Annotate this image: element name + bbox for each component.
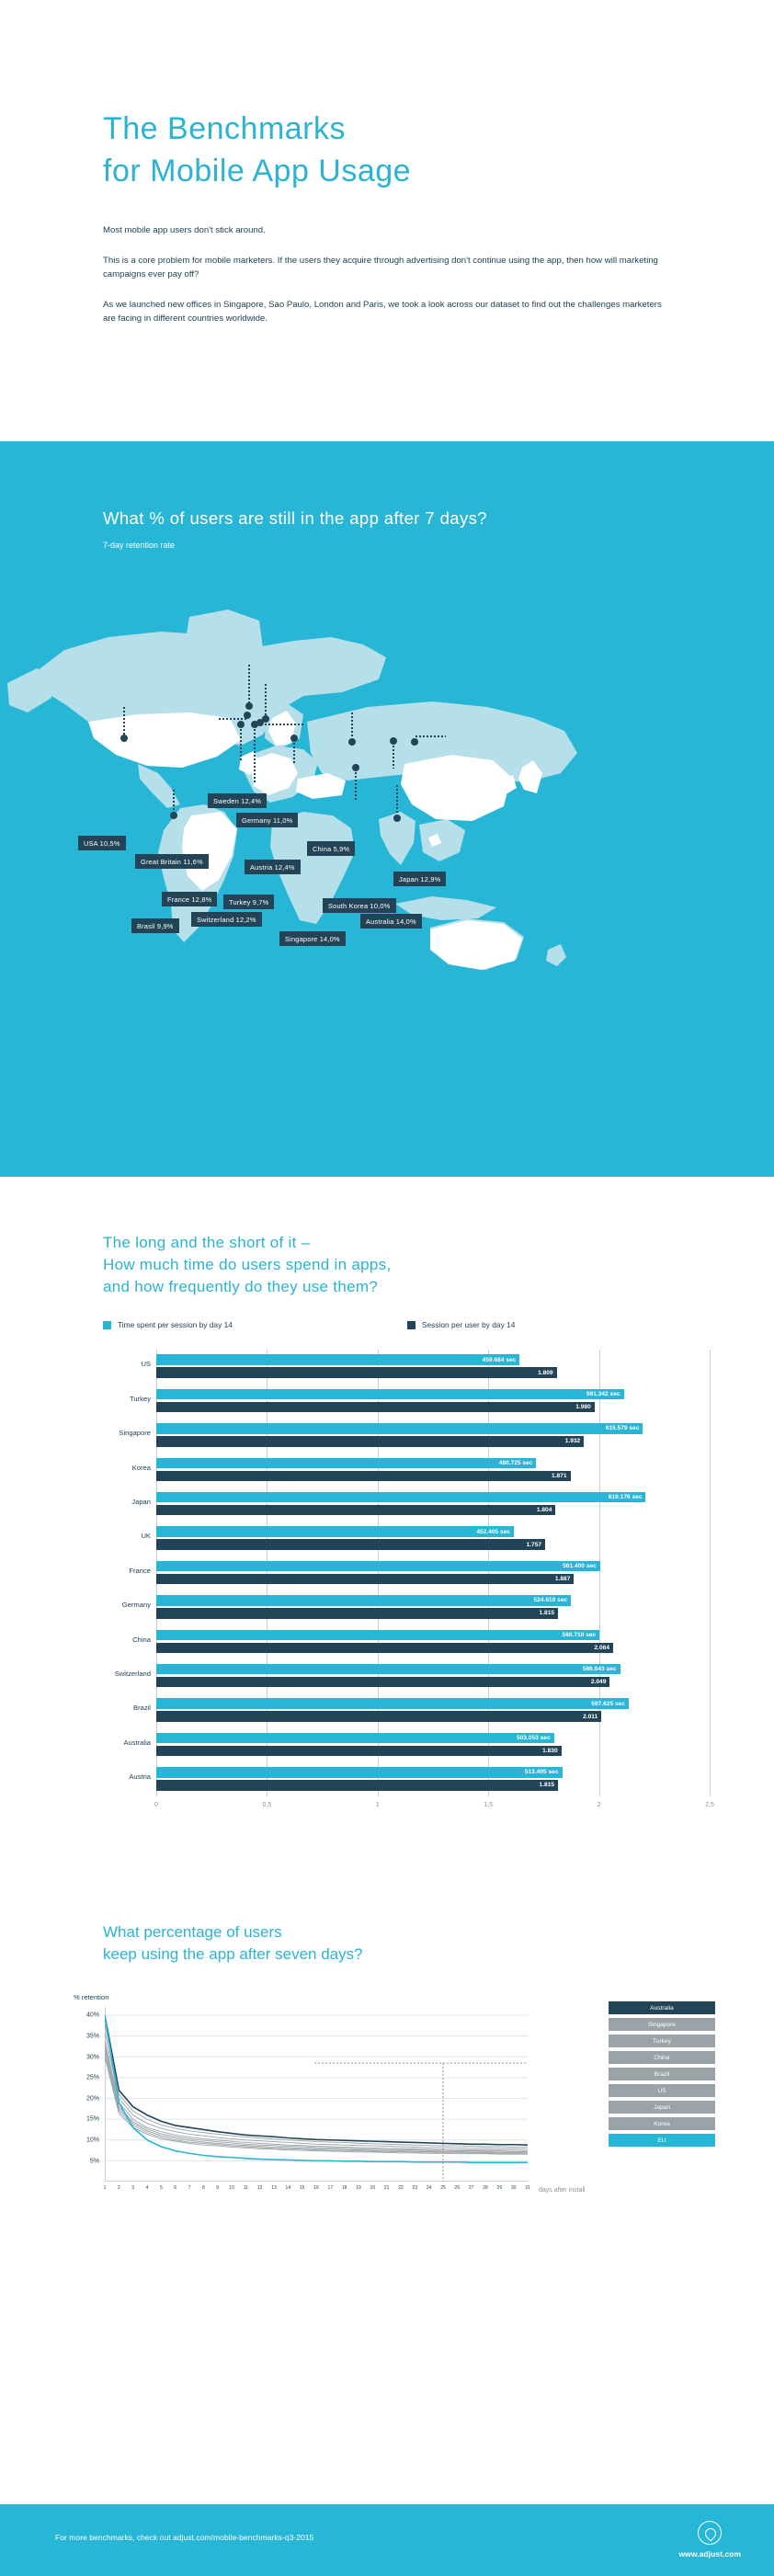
retention-curve-section: What percentage of users keep using the …: [0, 1921, 774, 2218]
line-chart-x-tick: 1: [104, 2185, 107, 2191]
intro-paragraph-2: This is a core problem for mobile market…: [103, 254, 664, 282]
line-chart-y-tick: 10%: [86, 2137, 99, 2144]
line-chart-y-tick: 40%: [86, 2012, 99, 2019]
bar-chart-plot: US459.684 sec1.809Turkey591.342 sec1.980…: [156, 1350, 710, 1796]
line-chart-plot: [105, 2007, 528, 2182]
bar-chart-row: UK452.405 sec1.757: [156, 1522, 710, 1556]
line-chart-legend-item[interactable]: Singapore: [609, 2018, 715, 2031]
line-chart-x-tick: 28: [483, 2185, 488, 2191]
bar-sessions: 1.809: [156, 1367, 557, 1378]
bar-sessions-value: 1.809: [538, 1370, 557, 1376]
bar-sessions-value: 2.011: [583, 1714, 601, 1720]
bar-sessions: 1.815: [156, 1608, 558, 1619]
line-series-singapore: [105, 2023, 528, 2147]
line-chart-x-tick: 10: [229, 2185, 234, 2191]
line-chart-x-axis: 1234567891011121314151617181920212223242…: [105, 2185, 528, 2198]
line-chart-x-tick: 22: [398, 2185, 404, 2191]
line-chart-x-tick: 3: [131, 2185, 134, 2191]
line-chart-legend-item[interactable]: Japan: [609, 2101, 715, 2114]
line-chart-legend-item[interactable]: China: [609, 2051, 715, 2064]
bar-time-value: 503.053 sec: [517, 1735, 554, 1741]
bar-chart-x-tick: 2,5: [705, 1802, 714, 1808]
line-series-australia: [105, 2015, 528, 2145]
line-series-us: [105, 2048, 528, 2153]
footer: For more benchmarks, check out adjust.co…: [0, 2504, 774, 2576]
bar-chart-x-tick: 2: [598, 1802, 601, 1808]
line-chart-x-tick: 4: [146, 2185, 149, 2191]
line-chart-y-tick: 20%: [86, 2095, 99, 2102]
map-pin-leader: [264, 683, 267, 719]
line-chart-x-caption: days after install: [539, 2187, 586, 2194]
bar-chart-row: Germany524.619 sec1.815: [156, 1590, 710, 1624]
bar-chart-row-label: France: [103, 1567, 151, 1575]
map-pin-label: Brasil 9,9%: [131, 918, 179, 933]
bar-sessions: 1.932: [156, 1436, 584, 1447]
intro-section: The Benchmarks for Mobile App Usage Most…: [0, 0, 774, 326]
map-pin-leader: [354, 768, 358, 802]
footer-brand[interactable]: www.adjust.com: [679, 2521, 742, 2559]
bar-sessions: 2.011: [156, 1711, 601, 1722]
bar-time-spent: 503.053 sec: [156, 1733, 554, 1744]
bar-chart-row: Brazil597.625 sec2.011: [156, 1693, 710, 1727]
bar-sessions-value: 1.830: [542, 1748, 562, 1754]
bar-chart-x-axis: 00,511,522,5: [156, 1802, 710, 1815]
line-series-turkey: [105, 2032, 528, 2149]
bar-sessions: 1.887: [156, 1574, 574, 1585]
sec3-heading: What percentage of users keep using the …: [103, 1921, 774, 1966]
line-chart-x-tick: 18: [342, 2185, 347, 2191]
line-chart-x-tick: 2: [118, 2185, 120, 2191]
line-chart-x-tick: 6: [174, 2185, 176, 2191]
map-pin-leader: [395, 784, 399, 818]
map-subheading: 7-day retention rate: [103, 541, 175, 550]
bar-sessions-value: 2.049: [591, 1679, 610, 1685]
line-chart-x-tick: 24: [427, 2185, 432, 2191]
bar-chart-x-tick: 0: [154, 1802, 158, 1808]
session-bar-chart: US459.684 sec1.809Turkey591.342 sec1.980…: [103, 1350, 710, 1824]
map-pin-leader: [292, 738, 296, 765]
map-pin-leader: [260, 723, 304, 726]
sec2-heading-line-1: The long and the short of it –: [103, 1234, 310, 1251]
bar-chart-row-label: Turkey: [103, 1395, 151, 1403]
bar-chart-row-label: UK: [103, 1532, 151, 1540]
bar-chart-row-label: Korea: [103, 1464, 151, 1472]
line-chart-x-tick: 11: [244, 2185, 248, 2191]
bar-time-value: 615.579 sec: [606, 1425, 643, 1431]
line-chart-legend-item[interactable]: Korea: [609, 2117, 715, 2130]
intro-paragraph-3: As we launched new offices in Singapore,…: [103, 298, 664, 326]
sec2-heading-line-3: and how frequently do they use them?: [103, 1278, 378, 1295]
legend-label-sessions: Session per user by day 14: [422, 1320, 516, 1329]
bar-time-spent: 586.643 sec: [156, 1664, 620, 1675]
bar-chart-row-label: China: [103, 1636, 151, 1644]
retention-line-chart: 40%35%30%25%20%15%10%5% 1234567891011121…: [72, 2007, 715, 2218]
bar-time-spent: 452.405 sec: [156, 1526, 514, 1537]
bar-time-spent: 560.719 sec: [156, 1630, 599, 1641]
bar-chart-row: Singapore615.579 sec1.932: [156, 1419, 710, 1453]
bar-time-value: 452.405 sec: [476, 1529, 514, 1535]
bar-chart-row-label: Germany: [103, 1601, 151, 1609]
bar-sessions-value: 1.804: [537, 1507, 556, 1513]
bar-chart-row-label: Switzerland: [103, 1670, 151, 1678]
bar-time-spent: 591.342 sec: [156, 1389, 624, 1400]
line-chart-y-tick: 30%: [86, 2054, 99, 2060]
sec3-heading-line-2: keep using the app after seven days?: [103, 1945, 363, 1963]
map-pin-leader: [122, 706, 126, 738]
sec2-heading-line-2: How much time do users spend in apps,: [103, 1256, 391, 1273]
bar-chart-x-tick: 1,5: [484, 1802, 493, 1808]
line-chart-legend: AustraliaSingaporeTurkeyChinaBrazilUSJap…: [609, 2001, 715, 2150]
legend-label-time: Time spent per session by day 14: [118, 1320, 233, 1329]
title-line-1: The Benchmarks: [103, 111, 346, 146]
bar-time-spent: 524.619 sec: [156, 1595, 571, 1606]
bar-sessions: 1.815: [156, 1780, 558, 1791]
bar-time-value: 480.725 sec: [499, 1460, 537, 1466]
map-heading: What % of users are still in the app aft…: [103, 508, 487, 529]
line-series-japan: [105, 2053, 528, 2153]
bar-chart-row: France561.400 sec1.887: [156, 1556, 710, 1590]
map-section: What % of users are still in the app aft…: [0, 441, 774, 1177]
bar-sessions-value: 1.815: [540, 1782, 559, 1788]
bar-chart-row-label: Brazil: [103, 1704, 151, 1712]
bar-chart-row: China560.719 sec2.064: [156, 1625, 710, 1659]
bar-chart-row-label: Australia: [103, 1738, 151, 1747]
retention-y-axis-label: % retention: [74, 1993, 774, 2001]
map-pin-label: Singapore 14,0%: [279, 931, 346, 946]
bar-time-value: 619.176 sec: [609, 1494, 646, 1500]
legend-swatch-time: [103, 1321, 111, 1329]
bar-sessions: 1.804: [156, 1505, 555, 1516]
map-pin-label: Great Britain 11,6%: [135, 854, 209, 869]
bar-chart-row-label: US: [103, 1360, 151, 1368]
line-chart-legend-item[interactable]: Turkey: [609, 2035, 715, 2047]
bar-time-value: 560.719 sec: [563, 1632, 600, 1638]
line-chart-x-tick: 9: [216, 2185, 219, 2191]
line-chart-x-tick: 25: [440, 2185, 446, 2191]
line-chart-y-tick: 5%: [90, 2158, 99, 2164]
bar-time-value: 561.400 sec: [563, 1563, 600, 1569]
line-chart-x-tick: 15: [300, 2185, 305, 2191]
map-pin-leader: [218, 717, 247, 721]
map-pin-label: Turkey 9,7%: [223, 895, 274, 909]
bar-time-value: 591.342 sec: [586, 1391, 624, 1397]
line-chart-x-tick: 27: [469, 2185, 474, 2191]
line-chart-x-tick: 16: [313, 2185, 319, 2191]
bar-sessions: 1.830: [156, 1746, 562, 1757]
session-chart-section: The long and the short of it – How much …: [0, 1232, 774, 1824]
map-pin-leader: [247, 664, 251, 706]
footer-url[interactable]: www.adjust.com: [679, 2549, 742, 2559]
sec2-legend: Time spent per session by day 14 Session…: [103, 1320, 774, 1329]
line-chart-x-tick: 20: [370, 2185, 376, 2191]
bar-time-value: 586.643 sec: [583, 1666, 620, 1672]
footer-text: For more benchmarks, check out adjust.co…: [55, 2533, 313, 2542]
bar-chart-gridline: [710, 1350, 711, 1796]
line-chart-x-tick: 23: [413, 2185, 418, 2191]
legend-item-sessions: Session per user by day 14: [407, 1320, 516, 1329]
line-chart-x-tick: 21: [384, 2185, 390, 2191]
bar-chart-row-label: Japan: [103, 1498, 151, 1506]
line-chart-legend-item[interactable]: Brazil: [609, 2068, 715, 2080]
bar-sessions: 1.757: [156, 1539, 545, 1550]
bar-time-spent: 459.684 sec: [156, 1354, 519, 1365]
line-chart-x-tick: 17: [328, 2185, 334, 2191]
map-pin-dot: [411, 738, 418, 746]
line-chart-y-axis: 40%35%30%25%20%15%10%5%: [72, 2007, 103, 2182]
bar-time-spent: 513.405 sec: [156, 1767, 563, 1778]
line-chart-x-tick: 8: [202, 2185, 205, 2191]
bar-sessions: 1.871: [156, 1471, 571, 1482]
line-chart-legend-item[interactable]: US: [609, 2084, 715, 2097]
line-chart-x-tick: 13: [271, 2185, 277, 2191]
bar-time-spent: 561.400 sec: [156, 1561, 600, 1572]
map-pin-leader: [392, 741, 395, 769]
infographic-page: The Benchmarks for Mobile App Usage Most…: [0, 0, 774, 2576]
bar-chart-row: US459.684 sec1.809: [156, 1350, 710, 1384]
adjust-logo-icon: [698, 2521, 722, 2545]
bar-chart-row: Switzerland586.643 sec2.049: [156, 1659, 710, 1693]
bar-sessions: 2.064: [156, 1643, 613, 1654]
sec3-heading-line-1: What percentage of users: [103, 1923, 282, 1941]
map-pin-label: Sweden 12,4%: [208, 793, 267, 808]
bar-sessions-value: 2.064: [594, 1645, 613, 1651]
line-chart-svg: [105, 2007, 528, 2182]
bar-time-spent: 480.725 sec: [156, 1458, 536, 1469]
bar-sessions-value: 1.887: [555, 1576, 575, 1582]
map-pin-label: South Korea 10,0%: [323, 898, 396, 913]
map-pin-leader: [253, 724, 256, 782]
line-chart-legend-item[interactable]: EU: [609, 2134, 715, 2147]
map-pin-leader: [415, 735, 446, 738]
sec2-heading: The long and the short of it – How much …: [103, 1232, 774, 1298]
map-pin-label: Japan 12,9%: [393, 872, 446, 886]
line-chart-x-tick: 31: [525, 2185, 530, 2191]
legend-swatch-sessions: [407, 1321, 415, 1329]
bar-sessions: 2.049: [156, 1677, 609, 1688]
bar-time-value: 524.619 sec: [534, 1597, 572, 1603]
title-line-2: for Mobile App Usage: [103, 154, 411, 188]
line-chart-y-tick: 35%: [86, 2033, 99, 2039]
map-pin-label: USA 10,5%: [78, 836, 126, 850]
bar-chart-row: Australia503.053 sec1.830: [156, 1728, 710, 1762]
map-pin-label: Germany 11,0%: [236, 813, 298, 827]
bar-time-spent: 615.579 sec: [156, 1423, 643, 1434]
bar-chart-row: Korea480.725 sec1.871: [156, 1453, 710, 1487]
map-pin-leader: [350, 712, 354, 742]
bar-chart-row: Japan619.176 sec1.804: [156, 1487, 710, 1522]
map-pin-label: Australia 14,0%: [360, 914, 422, 929]
line-chart-x-tick: 30: [511, 2185, 517, 2191]
legend-item-time: Time spent per session by day 14: [103, 1320, 233, 1329]
bar-sessions: 1.980: [156, 1402, 595, 1413]
map-pin-label: France 12,8%: [162, 892, 217, 906]
line-chart-x-tick: 29: [497, 2185, 503, 2191]
bar-time-value: 597.625 sec: [591, 1701, 629, 1707]
line-chart-x-tick: 14: [286, 2185, 291, 2191]
bar-time-spent: 619.176 sec: [156, 1492, 645, 1503]
page-title: The Benchmarks for Mobile App Usage: [103, 108, 774, 192]
line-chart-legend-item[interactable]: Australia: [609, 2001, 715, 2014]
map-pin-leader: [239, 724, 243, 762]
line-chart-x-tick: 12: [257, 2185, 263, 2191]
line-chart-x-tick: 26: [455, 2185, 461, 2191]
bar-sessions-value: 1.815: [540, 1610, 559, 1616]
line-chart-x-tick: 7: [188, 2185, 191, 2191]
map-pin-leader: [172, 789, 176, 815]
line-chart-x-tick: 5: [160, 2185, 163, 2191]
line-chart-x-tick: 19: [356, 2185, 361, 2191]
intro-paragraph-1: Most mobile app users don't stick around…: [103, 223, 664, 238]
bar-chart-row: Austria513.405 sec1.815: [156, 1762, 710, 1796]
map-pin-label: Switzerland 12,2%: [191, 912, 262, 927]
bar-chart-row-label: Austria: [103, 1772, 151, 1781]
bar-chart-row-label: Singapore: [103, 1429, 151, 1437]
line-chart-y-tick: 15%: [86, 2116, 99, 2123]
bar-sessions-value: 1.757: [527, 1542, 546, 1548]
bar-sessions-value: 1.980: [575, 1404, 595, 1410]
bar-chart-x-tick: 0,5: [263, 1802, 272, 1808]
bar-chart-x-tick: 1: [376, 1802, 380, 1808]
bar-time-value: 459.684 sec: [483, 1357, 520, 1363]
map-pin-label: Austria 12,4%: [245, 860, 301, 874]
line-chart-y-tick: 25%: [86, 2075, 99, 2081]
bar-chart-row: Turkey591.342 sec1.980: [156, 1385, 710, 1419]
bar-time-value: 513.405 sec: [525, 1769, 563, 1775]
map-pin-label: China 5,9%: [307, 841, 355, 856]
bar-sessions-value: 1.932: [565, 1438, 585, 1444]
bar-sessions-value: 1.871: [552, 1473, 571, 1479]
bar-time-spent: 597.625 sec: [156, 1698, 629, 1709]
